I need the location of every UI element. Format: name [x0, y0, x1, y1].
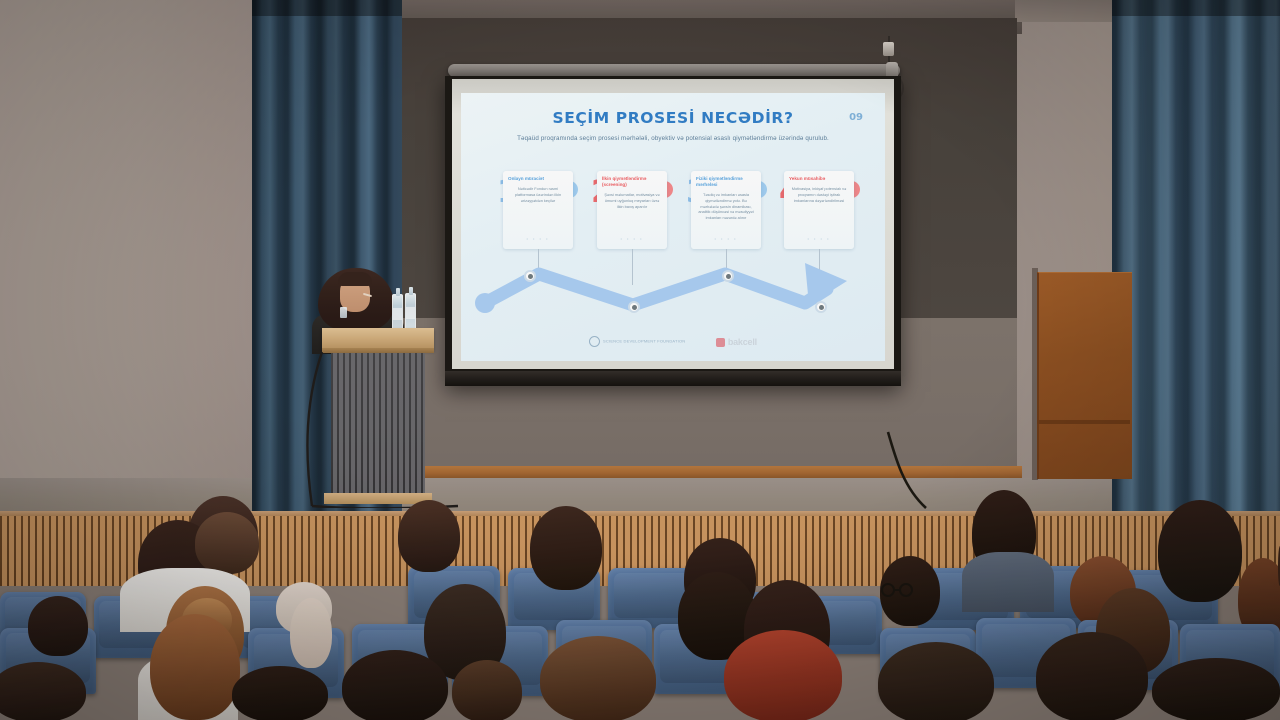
- audience-head: [530, 506, 602, 590]
- arrow-node-3: [722, 270, 734, 282]
- step-card-1-heading: Onlayn müraciət: [503, 171, 573, 184]
- step-card-3: Fiziki qiymətləndirmə mərhələsi Təsdiq v…: [691, 171, 761, 249]
- step-card-4-body: Motivasiya, inkişaf potensialı və proqra…: [784, 184, 854, 203]
- bakcell-logo-text: bakcell: [728, 337, 757, 347]
- step-card-1-body: Nəticədir Fondun rəsmi platformasa üzəri…: [503, 184, 573, 203]
- left-wall: [0, 0, 252, 520]
- audience-head: [452, 660, 522, 720]
- curtain-rail-left: [252, 0, 402, 16]
- audience-head: [878, 642, 994, 720]
- foundation-logo: SCIENCE DEVELOPMENT FOUNDATION: [589, 336, 685, 347]
- arrow-node-2: [628, 301, 640, 313]
- bakcell-logo: bakcell: [716, 337, 757, 347]
- slide-subtitle: Təqaüd proqramında seçim prosesi mərhələ…: [511, 134, 835, 144]
- audience-head: [342, 650, 448, 720]
- slide-title: SEÇİM PROSESİ NECƏDİR?: [461, 109, 885, 127]
- step-card-4-dots: • • • •: [784, 236, 854, 241]
- step-card-2-heading: İlkin qiymətləndirmə (screening): [597, 171, 667, 190]
- audience-head: [540, 636, 656, 720]
- step-card-4-heading: Yekun müsahibə: [784, 171, 854, 184]
- audience-head: [1152, 658, 1280, 720]
- audience-head: [724, 630, 842, 720]
- side-door: [1037, 272, 1132, 479]
- door-rail: [1037, 420, 1130, 424]
- step-card-3-heading: Fiziki qiymətləndirmə mərhələsi: [691, 171, 761, 190]
- growth-arrow-graphic: [475, 255, 875, 325]
- slide-page-number: 09: [849, 112, 863, 123]
- water-bottle-2: [405, 293, 416, 331]
- audience-head: [0, 662, 86, 720]
- step-card-1-dots: • • • •: [503, 236, 573, 241]
- foundation-mark-icon: [589, 336, 600, 347]
- presentation-slide: SEÇİM PROSESİ NECƏDİR? 09 Təqaüd proqram…: [461, 93, 885, 361]
- audience-head: [398, 500, 460, 572]
- audience-head: [150, 614, 240, 720]
- audience-head: [1158, 500, 1242, 602]
- curtain-rail-right: [1112, 0, 1280, 16]
- presenter-fringe: [338, 272, 372, 286]
- audience-torso: [962, 552, 1054, 612]
- stage-curtain-right: [1112, 0, 1280, 520]
- step-card-4: Yekun müsahibə Motivasiya, inkişaf poten…: [784, 171, 854, 249]
- step-card-3-dots: • • • •: [691, 236, 761, 241]
- screen-clip: [883, 42, 894, 56]
- step-card-3-body: Təsdiq və imkanları əsasla qiymətləndirm…: [691, 190, 761, 220]
- slide-footer-logos: SCIENCE DEVELOPMENT FOUNDATION bakcell: [461, 333, 885, 351]
- step-card-2: İlkin qiymətləndirmə (screening) Şəxsi m…: [597, 171, 667, 249]
- eyeglasses-icon: [880, 582, 920, 598]
- audience-head: [1036, 632, 1148, 720]
- audience-head: [232, 666, 328, 720]
- step-card-2-body: Şəxsi məlumatlar, motivasiya və ümumi uy…: [597, 190, 667, 209]
- drinking-glass: [340, 307, 347, 318]
- audience-head: [195, 512, 259, 574]
- step-card-2-dots: • • • •: [597, 236, 667, 241]
- floor-cable: [300, 340, 460, 508]
- audience-head: [28, 596, 88, 656]
- audience-forearm: [290, 598, 332, 668]
- arrow-node-4: [815, 301, 827, 313]
- foundation-logo-text: SCIENCE DEVELOPMENT FOUNDATION: [603, 339, 685, 344]
- water-bottle-1: [392, 294, 403, 332]
- arrow-node-1: [524, 270, 536, 282]
- presenter: [318, 268, 394, 330]
- bakcell-mark-icon: [716, 338, 725, 347]
- screen-bottom-bar: [445, 371, 901, 386]
- auditorium-photo: SEÇİM PROSESİ NECƏDİR? 09 Təqaüd proqram…: [0, 0, 1280, 720]
- step-card-1: Onlayn müraciət Nəticədir Fondun rəsmi p…: [503, 171, 573, 249]
